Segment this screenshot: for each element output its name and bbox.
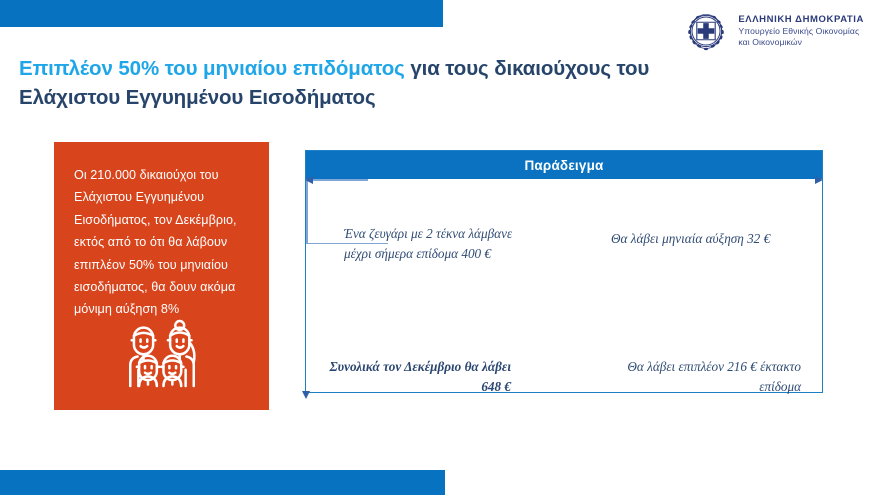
greek-coat-of-arms-icon [683, 8, 729, 54]
family-of-four-icon [114, 318, 210, 392]
step-extra-payment: Θα λάβει επιπλέον 216 € έκτακτο επίδομα [596, 357, 801, 397]
arrow-right-icon [306, 179, 368, 181]
page-title: Επιπλέον 50% του μηνιαίου επιδόματος για… [19, 54, 659, 112]
highlight-card: Οι 210.000 δικαιούχοι του Ελάχιστου Εγγυ… [54, 142, 269, 410]
arrow-down-icon [306, 181, 308, 243]
logo-line-ministry-2: και Οικονομικών [738, 37, 864, 48]
logo-line-country: ΕΛΛΗΝΙΚΗ ΔΗΜΟΚΡΑΤΙΑ [738, 14, 864, 26]
ministry-logo: ΕΛΛΗΝΙΚΗ ΔΗΜΟΚΡΑΤΙΑ Υπουργείο Εθνικής Οι… [683, 8, 864, 54]
example-panel: Παράδειγμα Ένα ζευγάρι με 2 τέκνα λάμβαν… [305, 150, 823, 393]
logo-line-ministry-1: Υπουργείο Εθνικής Οικονομίας [738, 26, 864, 37]
top-blue-bar [0, 0, 443, 27]
step-monthly-increase: Θα λάβει μηνιαία αύξηση 32 € [611, 229, 801, 249]
step-december-total: Συνολικά τον Δεκέμβριο θα λάβει 648 € [326, 357, 511, 397]
highlight-card-text: Οι 210.000 δικαιούχοι του Ελάχιστου Εγγυ… [74, 164, 249, 321]
example-panel-header: Παράδειγμα [306, 151, 822, 179]
example-panel-body: Ένα ζευγάρι με 2 τέκνα λάμβανε μέχρι σήμ… [306, 179, 822, 392]
page-title-highlight: Επιπλέον 50% του μηνιαίου επιδόματος [19, 57, 405, 80]
step-current-benefit: Ένα ζευγάρι με 2 τέκνα λάμβανε μέχρι σήμ… [344, 224, 529, 264]
bottom-blue-bar [0, 470, 445, 495]
